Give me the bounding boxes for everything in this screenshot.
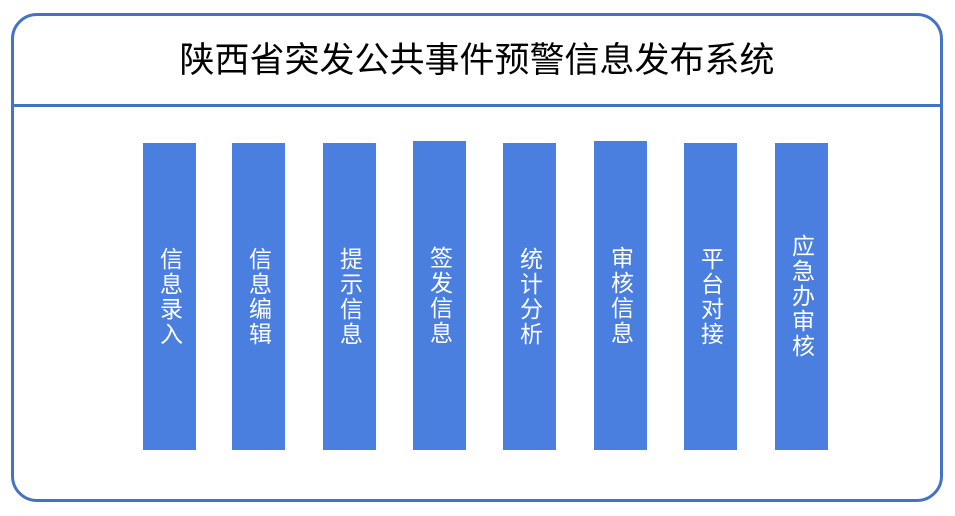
module-bar[interactable]: 提示信息	[323, 143, 376, 450]
module-bar[interactable]: 平台对接	[684, 143, 737, 450]
module-bar-label: 信息编辑	[244, 247, 272, 347]
module-bar-label: 签发信息	[425, 246, 453, 346]
module-bar[interactable]: 信息编辑	[232, 143, 285, 450]
module-bar-label: 平台对接	[696, 247, 724, 347]
module-bar[interactable]: 应急办审核	[775, 143, 828, 450]
module-bar-label: 提示信息	[335, 247, 363, 347]
page-title: 陕西省突发公共事件预警信息发布系统	[179, 43, 774, 78]
module-bar-label: 审核信息	[606, 246, 634, 346]
module-bar-label: 统计分析	[515, 247, 543, 347]
module-bars-region: 信息录入 信息编辑 提示信息 签发信息 统计分析 审核信息 平台对接 应急办审核	[14, 107, 940, 499]
module-bar[interactable]: 签发信息	[413, 141, 466, 450]
module-bar-label: 应急办审核	[787, 234, 815, 359]
module-bar[interactable]: 审核信息	[594, 141, 647, 450]
title-band: 陕西省突发公共事件预警信息发布系统	[14, 16, 940, 104]
module-bar[interactable]: 信息录入	[143, 143, 196, 450]
diagram-frame: 陕西省突发公共事件预警信息发布系统 信息录入 信息编辑 提示信息 签发信息 统计…	[11, 13, 943, 502]
module-bar[interactable]: 统计分析	[503, 143, 556, 450]
module-bar-label: 信息录入	[155, 247, 183, 347]
